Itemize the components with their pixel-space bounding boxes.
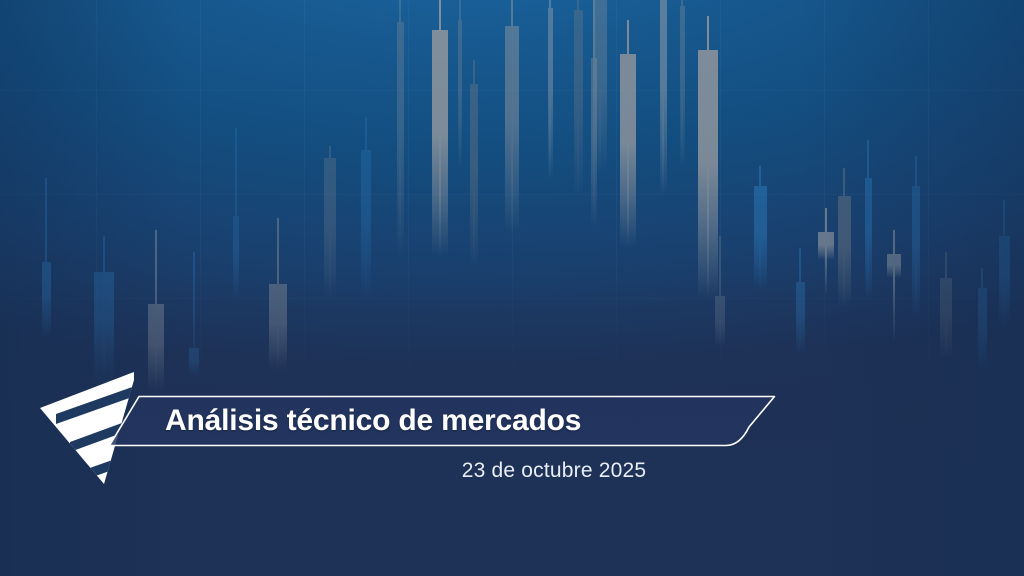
page-title: Análisis técnico de mercados	[165, 395, 581, 447]
title-banner: Análisis técnico de mercados	[108, 395, 776, 447]
slide-root: Análisis técnico de mercados 23 de octub…	[0, 0, 1024, 576]
slide-date: 23 de octubre 2025	[0, 459, 1024, 483]
background-side-shade	[0, 0, 1024, 576]
